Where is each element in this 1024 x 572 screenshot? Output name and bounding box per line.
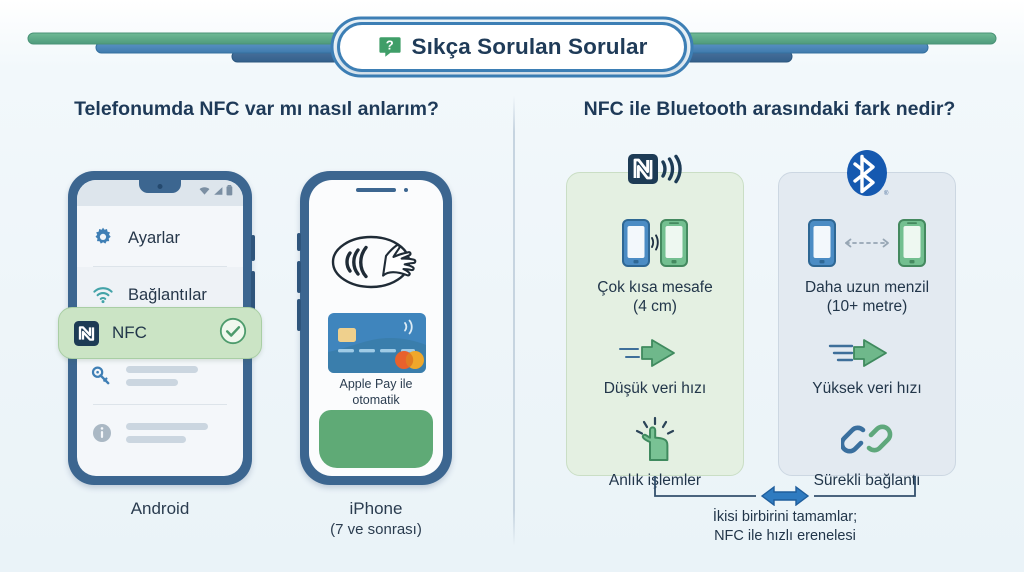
wifi-icon	[199, 186, 210, 196]
nfc-n-mark-icon	[73, 320, 100, 347]
footer-note-line2: NFC ile hızlı erenelesi	[714, 528, 856, 544]
question-speech-bubble-icon: ?	[377, 34, 403, 60]
bluetooth-logo-icon: ®	[844, 149, 890, 199]
bluetooth-feature-range: Daha uzun menzil (10+ metre)	[779, 217, 955, 316]
placeholder-lines	[126, 423, 208, 443]
settings-row-label: Ayarlar	[128, 229, 180, 248]
nfc-logo-badge	[626, 149, 684, 194]
android-power-button[interactable]	[251, 271, 255, 311]
iphone-caption-line2: otomatik	[352, 393, 399, 407]
info-icon	[91, 422, 113, 444]
settings-row-label: Bağlantılar	[128, 286, 207, 305]
wifi-icon	[91, 283, 115, 307]
settings-row-ayarlar[interactable]: Ayarlar	[77, 210, 243, 266]
nfc-feature-range-text: Çok kısa mesafe (4 cm)	[567, 278, 743, 316]
svg-text:®: ®	[884, 190, 889, 197]
android-label-text: Android	[131, 499, 190, 518]
two-phones-distance-icon	[805, 217, 929, 269]
feature-line1: Çok kısa mesafe	[597, 279, 712, 296]
feature-line1: Düşük veri hızı	[604, 380, 707, 397]
nfc-feature-speed: Düşük veri hızı	[567, 336, 743, 398]
right-panel-heading: NFC ile Bluetooth arasındaki fark nedir?	[515, 98, 1024, 121]
nfc-feature-range: Çok kısa mesafe (4 cm)	[567, 217, 743, 316]
iphone-speaker-bar	[356, 188, 396, 192]
footer-note-line1: İkisi birbirini tamamlar;	[713, 509, 857, 525]
iphone-volume-down-button[interactable]	[297, 299, 301, 331]
credit-card-icon	[327, 312, 427, 374]
android-volume-button[interactable]	[251, 235, 255, 261]
question-mark-glyph: ?	[385, 38, 393, 53]
settings-row-about[interactable]	[77, 405, 243, 461]
nfc-enabled-status	[219, 317, 247, 350]
iphone-caption: Apple Pay ile otomatik	[309, 376, 443, 408]
feature-line2: (10+ metre)	[827, 298, 908, 315]
tap-hand-icon	[628, 416, 682, 462]
iphone-mute-switch[interactable]	[297, 233, 301, 251]
front-camera-icon	[404, 188, 408, 192]
iphone-caption-line1: Apple Pay ile	[340, 377, 413, 391]
nfc-logo-icon	[626, 149, 684, 189]
iphone-label-text: iPhone	[350, 499, 403, 518]
page-title-pill: ? Sıkça Sorulan Sorular	[337, 22, 687, 72]
panel-divider	[513, 96, 515, 546]
android-label: Android	[78, 498, 242, 520]
bluetooth-comparison-card: ® Daha uzun menzil (10+ metre)	[778, 172, 956, 476]
iphone-volume-up-button[interactable]	[297, 261, 301, 293]
fast-arrow-icon	[820, 336, 914, 370]
slow-arrow-icon	[608, 336, 702, 370]
contactless-hand-icon	[323, 226, 431, 298]
bluetooth-feature-range-text: Daha uzun menzil (10+ metre)	[779, 278, 955, 316]
double-arrow-icon	[762, 487, 808, 505]
left-panel-heading: Telefonumda NFC var mı nasıl anlarım?	[0, 98, 513, 121]
check-circle-icon	[219, 317, 247, 345]
left-panel: Telefonumda NFC var mı nasıl anlarım?	[0, 92, 513, 121]
cards-connector-bracket	[640, 476, 930, 506]
iphone-sublabel-text: (7 ve sonrası)	[294, 520, 458, 540]
right-panel: NFC ile Bluetooth arasındaki fark nedir?	[515, 92, 1024, 121]
android-notch	[139, 180, 181, 193]
battery-icon	[226, 185, 233, 196]
bluetooth-feature-speed-text: Yüksek veri hızı	[779, 379, 955, 398]
iphone-label: iPhone (7 ve sonrası)	[294, 498, 458, 540]
gear-icon	[91, 226, 115, 250]
feature-line1: Yüksek veri hızı	[812, 380, 921, 397]
two-phones-tap-icon	[611, 217, 699, 269]
front-camera-icon	[158, 184, 163, 189]
placeholder-lines	[126, 366, 198, 386]
page-title: Sıkça Sorulan Sorular	[412, 34, 648, 60]
nfc-row-label: NFC	[112, 323, 147, 343]
footer-note: İkisi birbirini tamamlar; NFC ile hızlı …	[600, 508, 970, 546]
bluetooth-logo-badge: ®	[844, 149, 890, 204]
mastercard-logo-icon	[395, 351, 424, 369]
feature-line1: Daha uzun menzil	[805, 279, 929, 296]
home-bar-icon[interactable]	[319, 410, 433, 468]
bluetooth-feature-speed: Yüksek veri hızı	[779, 336, 955, 398]
iphone-mockup: Apple Pay ile otomatik	[300, 171, 452, 485]
key-icon	[91, 365, 113, 387]
nfc-feature-speed-text: Düşük veri hızı	[567, 379, 743, 398]
feature-line2: (4 cm)	[633, 298, 677, 315]
signal-icon	[213, 186, 223, 196]
nfc-comparison-card: Çok kısa mesafe (4 cm) Düşük veri hızı A…	[566, 172, 744, 476]
settings-row-nfc-highlighted[interactable]: NFC	[58, 307, 262, 359]
chain-link-icon	[841, 416, 893, 462]
